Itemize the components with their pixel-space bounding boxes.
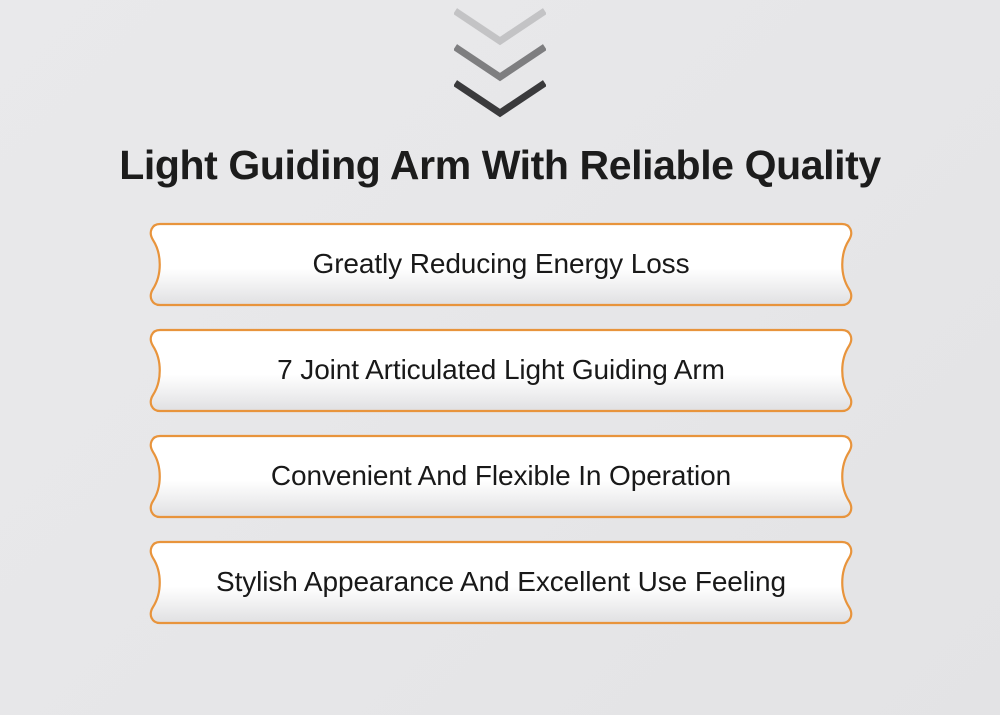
feature-card[interactable]: Greatly Reducing Energy Loss bbox=[146, 222, 856, 307]
feature-banner: Light Guiding Arm With Reliable Quality … bbox=[0, 0, 1000, 715]
feature-card-label: Stylish Appearance And Excellent Use Fee… bbox=[146, 540, 856, 625]
feature-card[interactable]: Convenient And Flexible In Operation bbox=[146, 434, 856, 519]
feature-card-label: Convenient And Flexible In Operation bbox=[146, 434, 856, 519]
page-title: Light Guiding Arm With Reliable Quality bbox=[0, 142, 1000, 189]
feature-card[interactable]: 7 Joint Articulated Light Guiding Arm bbox=[146, 328, 856, 413]
chevron-down-icon-medium bbox=[454, 44, 546, 82]
feature-card[interactable]: Stylish Appearance And Excellent Use Fee… bbox=[146, 540, 856, 625]
chevron-down-icon-dark bbox=[454, 80, 546, 118]
chevron-stack bbox=[0, 8, 1000, 128]
feature-card-label: 7 Joint Articulated Light Guiding Arm bbox=[146, 328, 856, 413]
chevron-down-icon-light bbox=[454, 8, 546, 46]
feature-list: Greatly Reducing Energy Loss 7 Joint Art… bbox=[146, 222, 856, 625]
feature-card-label: Greatly Reducing Energy Loss bbox=[146, 222, 856, 307]
